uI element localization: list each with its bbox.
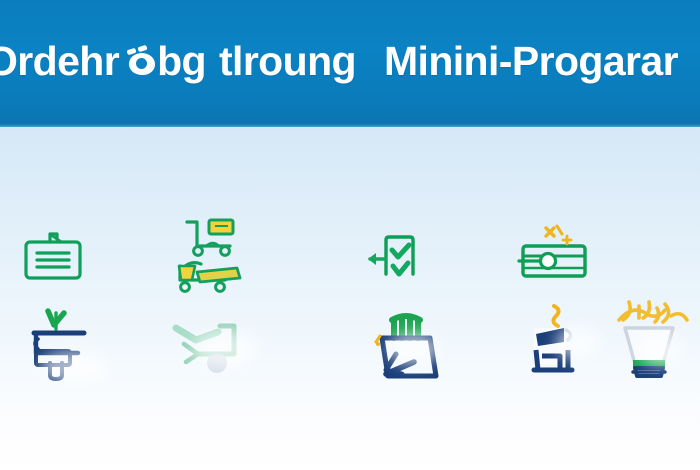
title-word-bg: bg <box>157 30 206 92</box>
header-banner: Ordehr bg tlroung Minini-Progarar <box>0 0 700 122</box>
icon-grid <box>0 200 700 420</box>
shopping-cart-pair-icon <box>175 208 295 308</box>
cart-pin-icon <box>170 310 290 410</box>
title-word-ordehr: Ordehr <box>0 30 119 92</box>
basket-check-icon <box>20 305 140 405</box>
title-word-minini-progarar: Minini-Progarar <box>384 30 678 92</box>
header-underline <box>0 122 700 127</box>
title-word-tlroung: tlroung <box>219 30 356 92</box>
bird-blob-icon <box>125 44 159 78</box>
sparkle-basket-icon <box>615 298 700 398</box>
shopping-bag-icon <box>370 308 490 408</box>
header-title: Ordehr bg tlroung Minini-Progarar <box>0 30 700 92</box>
poster-root: Ordehr bg tlroung Minini-Progarar <box>0 0 700 470</box>
